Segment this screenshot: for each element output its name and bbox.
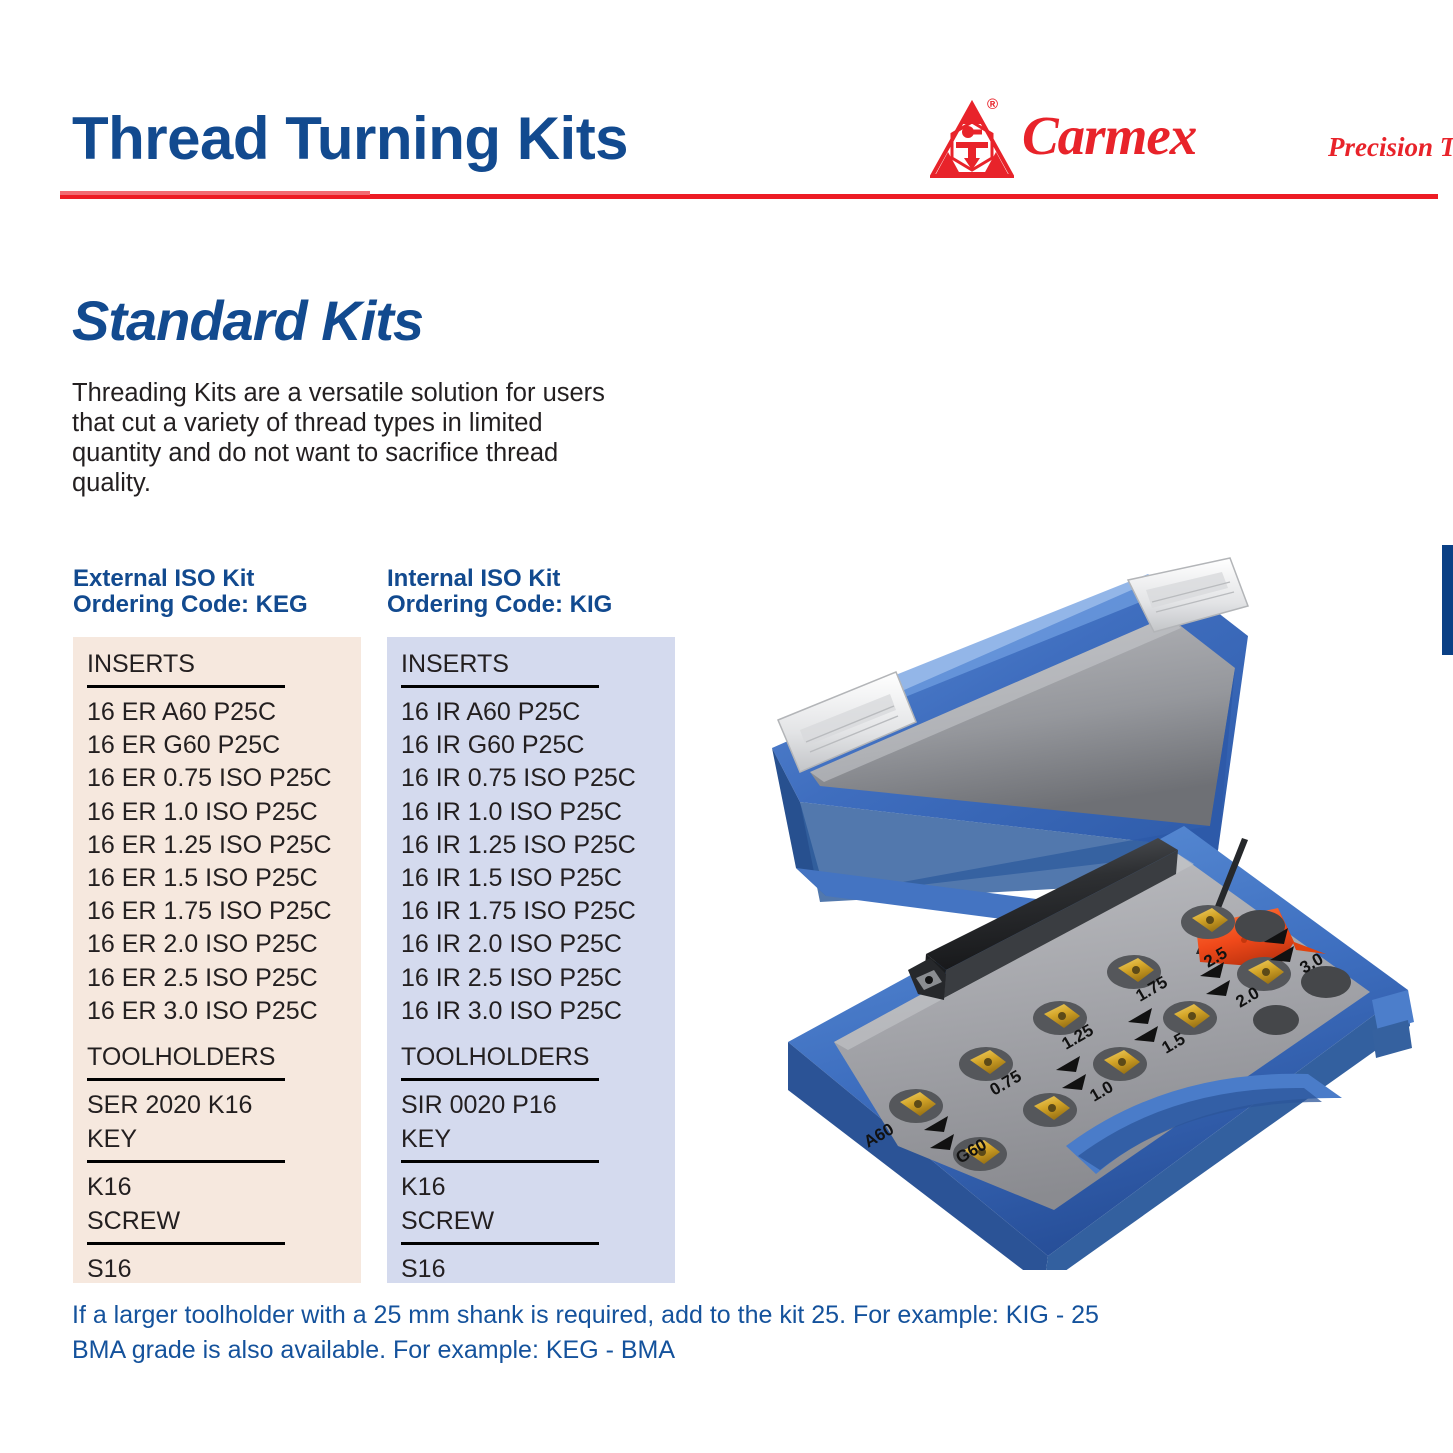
footer-note-line1: If a larger toolholder with a 25 mm shan…: [72, 1298, 1272, 1333]
external-kit-heading-line2: Ordering Code: KEG: [73, 592, 308, 618]
spec-row: SER 2020 K16: [87, 1089, 361, 1122]
spec-group-label: KEY: [87, 1124, 361, 1158]
external-kit-heading-line1: External ISO Kit: [73, 566, 308, 592]
spec-group-label: INSERTS: [401, 649, 675, 683]
spec-group-label: INSERTS: [87, 649, 361, 683]
spec-row: 16 IR 0.75 ISO P25C: [401, 762, 675, 795]
spec-row: 16 ER 1.25 ISO P25C: [87, 829, 361, 862]
spec-row: 16 ER A60 P25C: [87, 696, 361, 729]
spec-row: 16 ER 1.5 ISO P25C: [87, 862, 361, 895]
external-kit-spec-panel: INSERTS16 ER A60 P25C16 ER G60 P25C16 ER…: [73, 637, 361, 1283]
spec-row: S16: [401, 1253, 675, 1286]
section-intro-text: Threading Kits are a versatile solution …: [72, 378, 632, 498]
product-photo-thread-turning-kit-case: A60 G60 0.75 1.0 1.25 1.5: [748, 550, 1438, 1270]
spec-row: K16: [87, 1171, 361, 1204]
spec-row: 16 IR 1.75 ISO P25C: [401, 895, 675, 928]
brand-name: Carmex: [1022, 104, 1196, 167]
footer-note: If a larger toolholder with a 25 mm shan…: [72, 1298, 1272, 1368]
spec-row: 16 IR A60 P25C: [401, 696, 675, 729]
registered-trademark-icon: ®: [987, 96, 998, 113]
carmex-triangle-logo-icon: [930, 100, 1014, 184]
spec-row: 16 IR 1.25 ISO P25C: [401, 829, 675, 862]
spec-group-spacer: [87, 1028, 361, 1042]
spec-group-label: TOOLHOLDERS: [87, 1042, 361, 1076]
spec-row: 16 ER G60 P25C: [87, 729, 361, 762]
spec-row: 16 IR 2.5 ISO P25C: [401, 962, 675, 995]
spec-group-label: KEY: [401, 1124, 675, 1158]
spec-row: 16 ER 1.75 ISO P25C: [87, 895, 361, 928]
spec-group-divider: [87, 1078, 285, 1081]
internal-kit-heading: Internal ISO Kit Ordering Code: KIG: [387, 566, 612, 618]
spec-row: 16 ER 3.0 ISO P25C: [87, 995, 361, 1028]
spec-group-label: SCREW: [87, 1206, 361, 1240]
page-edge-tab: [1442, 545, 1453, 655]
internal-kit-spec-panel: INSERTS16 IR A60 P25C16 IR G60 P25C16 IR…: [387, 637, 675, 1283]
spec-row: 16 ER 0.75 ISO P25C: [87, 762, 361, 795]
spec-group-divider: [401, 685, 599, 688]
spec-row: 16 ER 1.0 ISO P25C: [87, 796, 361, 829]
internal-kit-heading-line2: Ordering Code: KIG: [387, 592, 612, 618]
section-title: Standard Kits: [72, 288, 423, 353]
external-kit-heading: External ISO Kit Ordering Code: KEG: [73, 566, 308, 618]
page-header: Thread Turning Kits ® Carme: [0, 0, 1453, 210]
spec-group-divider: [87, 685, 285, 688]
spec-group-label: TOOLHOLDERS: [401, 1042, 675, 1076]
brand-subtitle: Precision Tools Ltd.: [1328, 132, 1453, 163]
spec-group-label: SCREW: [401, 1206, 675, 1240]
spec-row: 16 IR 1.0 ISO P25C: [401, 796, 675, 829]
spec-group-divider: [401, 1078, 599, 1081]
spec-group-divider: [401, 1160, 599, 1163]
spec-group-divider: [401, 1242, 599, 1245]
internal-kit-heading-line1: Internal ISO Kit: [387, 566, 612, 592]
spec-row: 16 IR 1.5 ISO P25C: [401, 862, 675, 895]
spec-group-divider: [87, 1242, 285, 1245]
spec-row: S16: [87, 1253, 361, 1286]
spec-row: K16: [401, 1171, 675, 1204]
spec-row: 16 IR 2.0 ISO P25C: [401, 928, 675, 961]
spec-row: 16 IR G60 P25C: [401, 729, 675, 762]
page-title: Thread Turning Kits: [72, 104, 628, 173]
header-divider-accent: [60, 191, 370, 195]
spec-row: 16 ER 2.0 ISO P25C: [87, 928, 361, 961]
spec-group-spacer: [401, 1028, 675, 1042]
spec-row: SIR 0020 P16: [401, 1089, 675, 1122]
footer-note-line2: BMA grade is also available. For example…: [72, 1333, 1272, 1368]
spec-group-divider: [87, 1160, 285, 1163]
spec-row: 16 ER 2.5 ISO P25C: [87, 962, 361, 995]
spec-row: 16 IR 3.0 ISO P25C: [401, 995, 675, 1028]
brand-logo: ® Carmex Precision Tools Ltd.: [930, 98, 1430, 190]
